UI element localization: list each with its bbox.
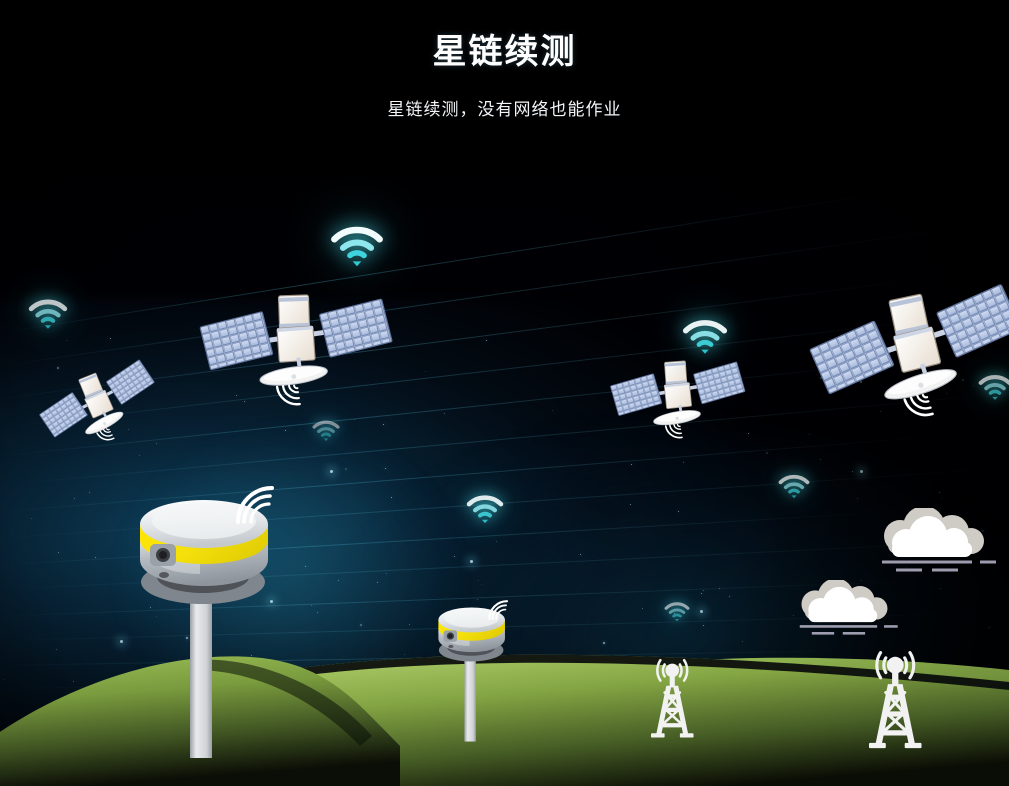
cell-tower-left — [634, 650, 711, 747]
cloud-upper-right — [866, 508, 996, 582]
wifi-icon-7 — [664, 600, 690, 621]
heading-block: 星链续测 星链续测，没有网络也能作业 — [0, 0, 1009, 120]
gnss-receiver-large — [120, 478, 290, 762]
cloud-lower-right — [786, 580, 898, 644]
wifi-icon-1 — [330, 222, 384, 266]
wifi-icon-3 — [682, 316, 728, 354]
wifi-icon-4 — [312, 418, 340, 441]
page-subtitle: 星链续测，没有网络也能作业 — [0, 73, 1009, 120]
hero-banner: 星链续测 星链续测，没有网络也能作业 — [0, 0, 1009, 786]
wifi-icon-8 — [978, 372, 1009, 400]
wifi-icon-2 — [28, 296, 68, 329]
wifi-icon-5 — [466, 492, 504, 523]
gnss-receiver-small — [428, 596, 516, 744]
cell-tower-right — [848, 640, 943, 760]
satellite-top-center — [186, 259, 405, 439]
wifi-icon-6 — [778, 472, 810, 498]
page-title: 星链续测 — [0, 0, 1009, 73]
